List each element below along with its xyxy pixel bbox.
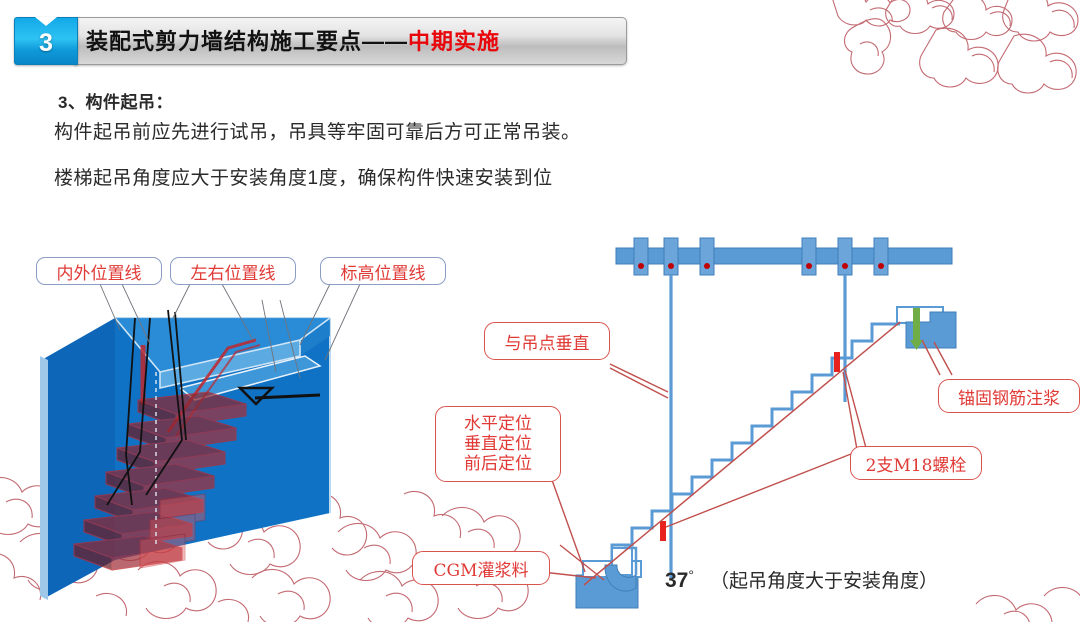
back-wall-plane [40,318,115,600]
page-title: 装配式剪力墙结构施工要点——中期实施 [86,17,500,63]
label-text: 2支M18螺栓 [866,451,967,476]
decorative-cloud-pattern-top-right [836,0,1080,105]
label-perpendicular-to-lift-point: 与吊点垂直 [484,322,610,360]
stair-steps-highlight [74,392,246,570]
label-line-1: 水平定位 [464,414,532,434]
angle-value: 37 [665,569,688,593]
section-number-badge: 3 [14,17,78,65]
page-title-highlight: 中期实施 [408,24,500,56]
label-text: 左右位置线 [191,259,276,284]
spreader-beam [616,238,952,275]
lifting-cables [671,275,845,578]
label-left-right-position-line: 左右位置线 [170,257,296,285]
body-line-1: 构件起吊前应先进行试吊，吊具等牢固可靠后方可正常吊装。 [54,117,581,144]
page-title-main: 装配式剪力墙结构施工要点—— [86,24,408,56]
label-text: 与吊点垂直 [505,329,590,354]
beam-pin-holes [638,263,884,269]
label-inner-outer-position-line: 内外位置线 [36,257,162,285]
base-grout-detail [576,548,641,608]
body-heading: 3、构件起吊： [58,88,173,113]
label-line-3: 前后定位 [464,454,532,474]
bolt-markers [660,352,840,541]
body-line-2: 楼梯起吊角度应大于安装角度1度，确保构件快速安装到位 [54,163,553,190]
label-positioning-notes: 水平定位 垂直定位 前后定位 [435,406,561,482]
slide-root: 3 装配式剪力墙结构施工要点——中期实施 3、构件起吊： 构件起吊前应先进行试吊… [0,0,1080,608]
stair-edge-red-lines [143,340,260,436]
right-wall-plane [115,318,330,560]
label-text: 内外位置线 [57,259,142,284]
angle-unit: ° [688,567,694,583]
label-cgm-grout-material: CGM灌浆料 [412,551,550,585]
label-leader-lines [100,284,360,378]
landing-slab [115,318,330,388]
label-two-m18-bolts: 2支M18螺栓 [850,446,982,480]
lifting-angle-annotation: 37 ° （起吊角度大于安装角度） [665,566,938,593]
label-text: 标高位置线 [341,259,426,284]
landing-ledge [180,356,320,412]
decorative-cloud-pattern-bottom-right [970,552,1080,622]
label-text: CGM灌浆料 [434,556,529,581]
label-line-2: 垂直定位 [464,434,532,454]
beam-lifting-lugs [634,238,888,275]
label-elevation-position-line: 标高位置线 [320,257,446,285]
section-number-text: 3 [15,18,77,64]
label-text: 锚固钢筋注浆 [958,384,1060,409]
stair-projection-outline [140,494,205,568]
angle-note: （起吊角度大于安装角度） [710,566,938,593]
top-landing-support [897,307,956,350]
slide-title-bar: 3 装配式剪力墙结构施工要点——中期实施 [14,17,627,63]
stair-black-leaders [107,310,186,505]
label-anchor-rebar-grouting: 锚固钢筋注浆 [938,379,1080,413]
direction-arrow [240,388,320,404]
